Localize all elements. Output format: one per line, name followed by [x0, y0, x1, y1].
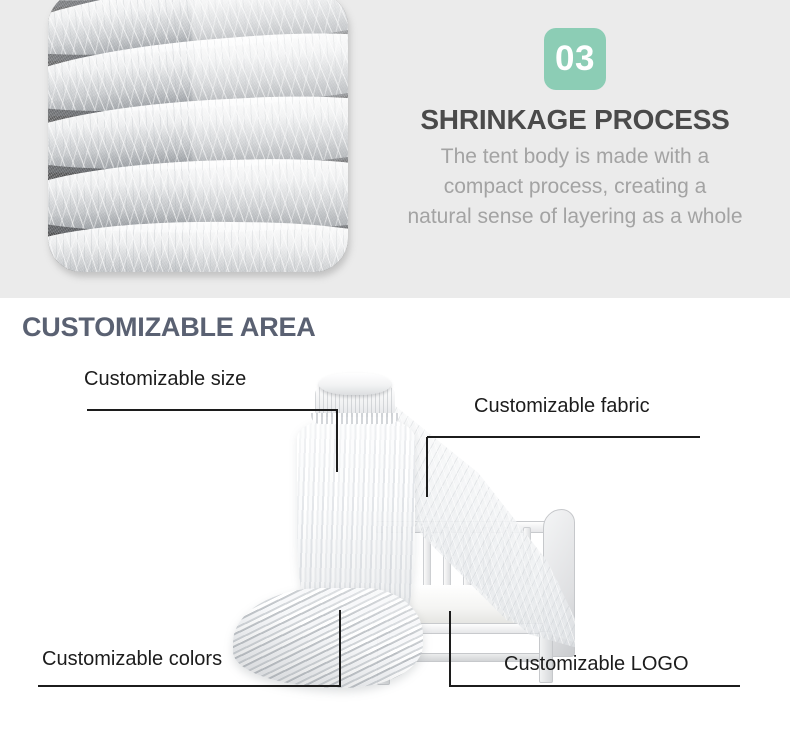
shrinkage-description: The tent body is made with a compact pro… — [360, 142, 790, 231]
step-number-badge: 03 — [544, 28, 606, 90]
callout-label-size: Customizable size — [84, 368, 246, 391]
shrinkage-text-block: 03 SHRINKAGE PROCESS The tent body is ma… — [360, 0, 790, 298]
description-line: The tent body is made with a — [360, 142, 790, 172]
shrinkage-fabric-photo — [48, 0, 348, 272]
description-line: compact process, creating a — [360, 172, 790, 202]
fabric-photo-canvas — [48, 0, 348, 272]
callout-label-fabric: Customizable fabric — [474, 395, 650, 418]
photo-sheen-overlay — [48, 0, 348, 272]
description-line: natural sense of layering as a whole — [360, 202, 790, 232]
callout-label-colors: Customizable colors — [42, 648, 222, 671]
shrinkage-process-section: 03 SHRINKAGE PROCESS The tent body is ma… — [0, 0, 790, 298]
leader-line-size — [87, 410, 337, 472]
callout-label-logo: Customizable LOGO — [504, 653, 689, 676]
customizable-area-section: CUSTOMIZABLE AREA — [0, 298, 790, 735]
shrinkage-title: SHRINKAGE PROCESS — [360, 104, 790, 136]
